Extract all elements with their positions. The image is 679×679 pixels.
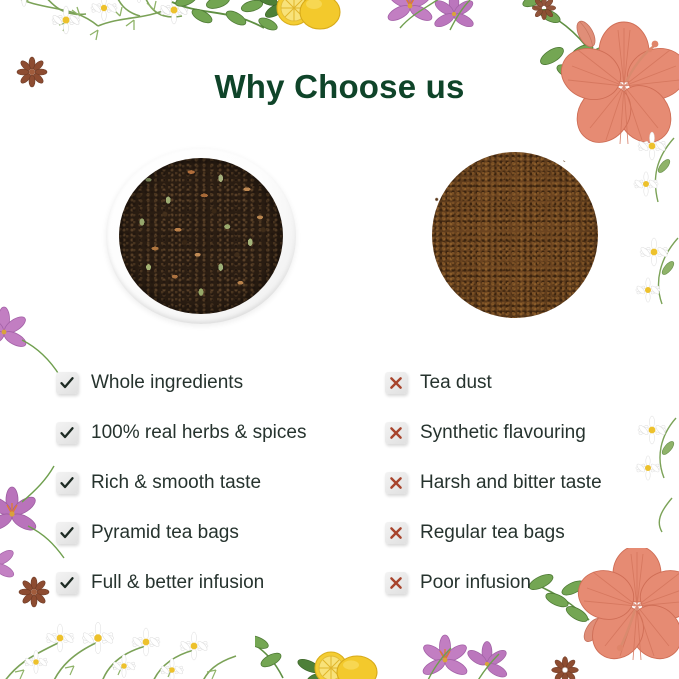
cons-label: Harsh and bitter taste xyxy=(420,472,602,494)
cons-label: Regular tea bags xyxy=(420,522,565,544)
star-anise-icon xyxy=(19,577,49,607)
whole-leaf-tea-bowl-image xyxy=(106,148,296,324)
check-icon xyxy=(56,372,78,394)
pros-label: 100% real herbs & spices xyxy=(91,422,306,444)
hibiscus-bud-icon xyxy=(573,18,599,49)
hibiscus-bud-icon xyxy=(581,616,606,645)
cons-row: Regular tea bags xyxy=(385,508,675,558)
cross-icon xyxy=(385,372,407,394)
cons-label: Synthetic flavouring xyxy=(420,422,586,444)
saffron-flower-icon xyxy=(433,0,476,29)
saffron-flower-icon xyxy=(0,487,38,533)
saffron-flower-icon xyxy=(421,635,469,677)
saffron-flower-icon xyxy=(0,542,16,580)
pros-label: Pyramid tea bags xyxy=(91,522,239,544)
pros-row: 100% real herbs & spices xyxy=(56,408,356,458)
pros-row: Full & better infusion xyxy=(56,558,356,608)
lemon-and-saffron-bottom-mid-icon xyxy=(255,612,515,679)
pros-row: Whole ingredients xyxy=(56,358,356,408)
pros-column: Whole ingredients 100% real herbs & spic… xyxy=(56,358,356,608)
check-icon xyxy=(56,572,78,594)
star-anise-icon xyxy=(532,0,556,20)
cons-column: Tea dust Synthetic flavouring Harsh and … xyxy=(385,358,675,608)
saffron-flower-icon xyxy=(386,0,434,23)
lemon-slices-icon xyxy=(296,652,377,679)
cross-icon xyxy=(385,472,407,494)
cons-row: Harsh and bitter taste xyxy=(385,458,675,508)
lemon-slices-icon xyxy=(257,0,340,29)
page-title: Why Choose us xyxy=(0,68,679,106)
why-choose-us-infographic: Why Choose us Whole ingredients 100% rea… xyxy=(0,0,679,679)
chamomile-flower xyxy=(12,0,189,34)
check-icon xyxy=(56,522,78,544)
cons-row: Synthetic flavouring xyxy=(385,408,675,458)
pros-label: Whole ingredients xyxy=(91,372,243,394)
pros-row: Pyramid tea bags xyxy=(56,508,356,558)
green-leaf-branch-top-left-icon xyxy=(168,0,298,74)
saffron-flower-icon xyxy=(465,642,508,679)
check-icon xyxy=(56,472,78,494)
star-anise-icon xyxy=(552,657,579,679)
pros-row: Rich & smooth taste xyxy=(56,458,356,508)
pros-label: Full & better infusion xyxy=(91,572,264,594)
cons-label: Poor infusion xyxy=(420,572,531,594)
whole-leaf-tea-contents xyxy=(119,158,283,314)
lemon-and-saffron-top-mid-icon xyxy=(250,0,480,68)
cross-icon xyxy=(385,522,407,544)
tea-dust-contents xyxy=(432,152,598,318)
pros-label: Rich & smooth taste xyxy=(91,472,261,494)
cons-row: Poor infusion xyxy=(385,558,675,608)
cross-icon xyxy=(385,572,407,594)
check-icon xyxy=(56,422,78,444)
cross-icon xyxy=(385,422,407,444)
saffron-flower-icon xyxy=(0,307,28,349)
cons-label: Tea dust xyxy=(420,372,492,394)
cons-row: Tea dust xyxy=(385,358,675,408)
tea-dust-pile-image xyxy=(432,152,598,318)
